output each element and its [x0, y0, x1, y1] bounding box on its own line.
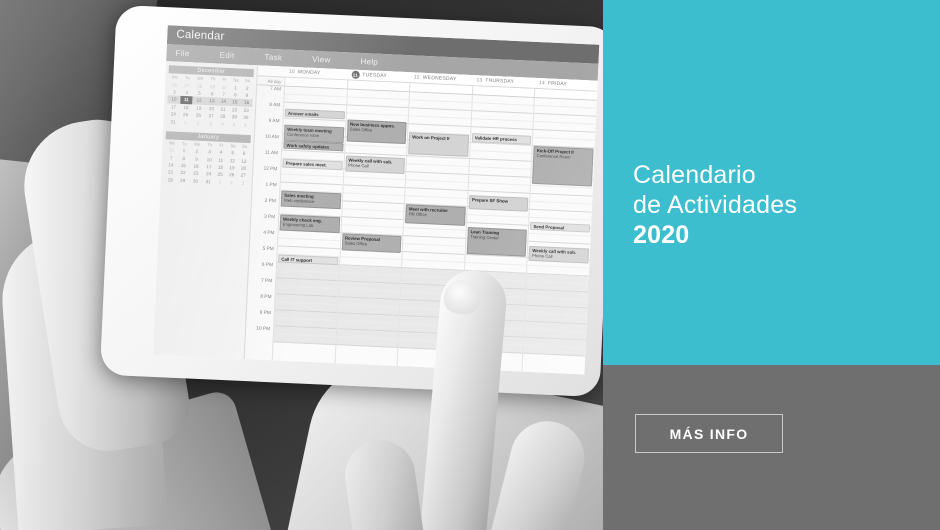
event-location: HR Office — [409, 212, 463, 220]
event-location: Training Center — [470, 235, 524, 243]
time-label: 10 AM — [254, 133, 282, 150]
tablet-device: Calendar File Edit Task View Help Decemb… — [100, 5, 603, 397]
menu-item-file[interactable]: File — [175, 45, 190, 63]
day-column-friday[interactable]: Kick-Off Project IIConference RoomSend P… — [522, 98, 597, 375]
time-label: 8 PM — [247, 293, 275, 310]
time-label: 9 PM — [246, 309, 274, 326]
time-label: 9 AM — [255, 117, 283, 134]
mini-month-december: DecemberMoTuWeThFrSaSu262728293012345678… — [166, 65, 254, 129]
time-label: 11 AM — [254, 149, 282, 166]
calendar-event[interactable]: Lean TrainingTraining Center — [466, 227, 527, 257]
calendar-event[interactable]: Weekly call with sub.Phone Call — [345, 155, 405, 174]
event-location: Sales Office — [350, 127, 404, 135]
day-number: 14 — [539, 80, 545, 86]
calendar-event[interactable]: Weekly call with sub.Phone Call — [529, 246, 589, 264]
page-title: Calendario de Actividades 2020 — [633, 160, 797, 250]
calendar-event[interactable]: Prepare SF Show — [469, 195, 529, 212]
time-label: 10 PM — [246, 325, 274, 342]
mini-day[interactable]: 2 — [225, 179, 237, 187]
day-number: 11 — [351, 71, 359, 79]
mini-day[interactable]: 31 — [202, 178, 214, 186]
event-location: Web conference — [284, 198, 338, 206]
calendar-event[interactable]: Weekly check eng.Engineering Lab — [280, 214, 340, 233]
time-label: 6 PM — [248, 261, 276, 278]
day-name: TUESDAY — [362, 72, 387, 79]
mini-day[interactable]: 28 — [164, 176, 177, 184]
event-location: Phone Call — [532, 253, 586, 261]
time-label: 5 PM — [249, 245, 277, 262]
time-label: 1 PM — [252, 181, 280, 198]
headline-panel: Calendario de Actividades 2020 — [603, 0, 940, 365]
time-label: 4 PM — [250, 229, 278, 246]
event-title: Prepare SF Show — [472, 197, 526, 205]
calendar-event[interactable]: Sales meetingWeb conference — [281, 191, 341, 210]
mini-day[interactable]: 3 — [205, 119, 217, 127]
hour-gridlines — [523, 98, 597, 375]
mini-month-january: JanuaryMoTuWeThFrSaSu3112345678910111213… — [164, 131, 251, 187]
promo-banner: Calendar File Edit Task View Help Decemb… — [0, 0, 940, 530]
mini-day[interactable]: 4 — [216, 120, 228, 128]
more-info-button[interactable]: MÁS INFO — [635, 414, 783, 453]
event-location: Sales Office — [345, 241, 399, 249]
time-label: 8 AM — [256, 101, 284, 118]
app-title: Calendar — [176, 29, 225, 43]
time-gutter-spacer — [258, 65, 285, 76]
day-number: 12 — [414, 74, 420, 80]
mini-day[interactable]: 30 — [188, 177, 202, 185]
mini-day[interactable]: 1 — [214, 178, 226, 186]
calendar-event[interactable]: Meet with recruiterHR Office — [405, 204, 465, 226]
headline-line-1: Calendario — [633, 161, 756, 189]
week-view: 10MONDAY11TUESDAY12WEDNESDAY13THURSDAY14… — [245, 65, 598, 374]
cta-panel: MÁS INFO — [603, 365, 940, 530]
time-label: 7 PM — [248, 277, 276, 294]
menu-item-view[interactable]: View — [312, 51, 331, 69]
gridline — [524, 346, 586, 357]
time-label: 7 AM — [256, 85, 284, 102]
mini-day[interactable]: 1 — [179, 118, 191, 126]
app-body: DecemberMoTuWeThFrSaSu262728293012345678… — [153, 61, 598, 374]
time-grid: 7 AM8 AM9 AM10 AM11 AM12 PM1 PM2 PM3 PM4… — [245, 85, 597, 374]
gridline — [336, 337, 398, 348]
mini-day[interactable]: 2 — [191, 119, 205, 127]
event-location: Engineering Lab — [283, 222, 337, 230]
tablet-screen: Calendar File Edit Task View Help Decemb… — [153, 25, 600, 374]
event-title: Prepare sales meet. — [286, 161, 340, 169]
gridline — [274, 334, 336, 345]
event-title: Work on Project II — [412, 134, 466, 142]
mini-day[interactable]: 6 — [240, 121, 252, 129]
event-title: Validate HR process — [475, 135, 529, 143]
all-day-label: All day — [257, 76, 284, 85]
mini-day[interactable]: 5 — [228, 120, 240, 128]
day-name: MONDAY — [298, 69, 321, 76]
calendar-event[interactable]: Work on Project II — [408, 132, 469, 157]
mini-day[interactable]: 3 — [237, 179, 249, 187]
time-label: 3 PM — [251, 213, 279, 230]
headline-line-2: de Actividades — [633, 191, 797, 219]
event-location: Conference Room — [536, 153, 590, 161]
menu-item-edit[interactable]: Edit — [219, 47, 235, 65]
menu-item-help[interactable]: Help — [360, 53, 378, 71]
day-number: 13 — [476, 77, 482, 83]
photo-background: Calendar File Edit Task View Help Decemb… — [0, 0, 603, 530]
event-location: Conference room — [287, 132, 341, 140]
time-label: 12 PM — [253, 165, 281, 182]
event-location: Phone Call — [348, 163, 402, 171]
day-name: FRIDAY — [548, 80, 567, 87]
time-label: 2 PM — [251, 197, 279, 214]
calendar-event[interactable]: Kick-Off Project IIConference Room — [532, 146, 593, 187]
day-number: 10 — [289, 69, 295, 75]
day-columns: Answer emailsWeekly team meetingConferen… — [272, 87, 597, 375]
day-name: WEDNESDAY — [423, 75, 457, 83]
headline-year: 2020 — [633, 220, 797, 250]
menu-item-task[interactable]: Task — [264, 49, 282, 67]
mini-calendar-sidebar: DecemberMoTuWeThFrSaSu262728293012345678… — [153, 61, 258, 359]
mini-day[interactable]: 31 — [166, 118, 179, 126]
calendar-event[interactable]: New business oppos.Sales Office — [346, 119, 407, 144]
calendar-event[interactable]: Review ProposalSales Office — [341, 233, 401, 253]
day-name: THURSDAY — [485, 78, 514, 85]
mini-day[interactable]: 29 — [177, 176, 189, 184]
